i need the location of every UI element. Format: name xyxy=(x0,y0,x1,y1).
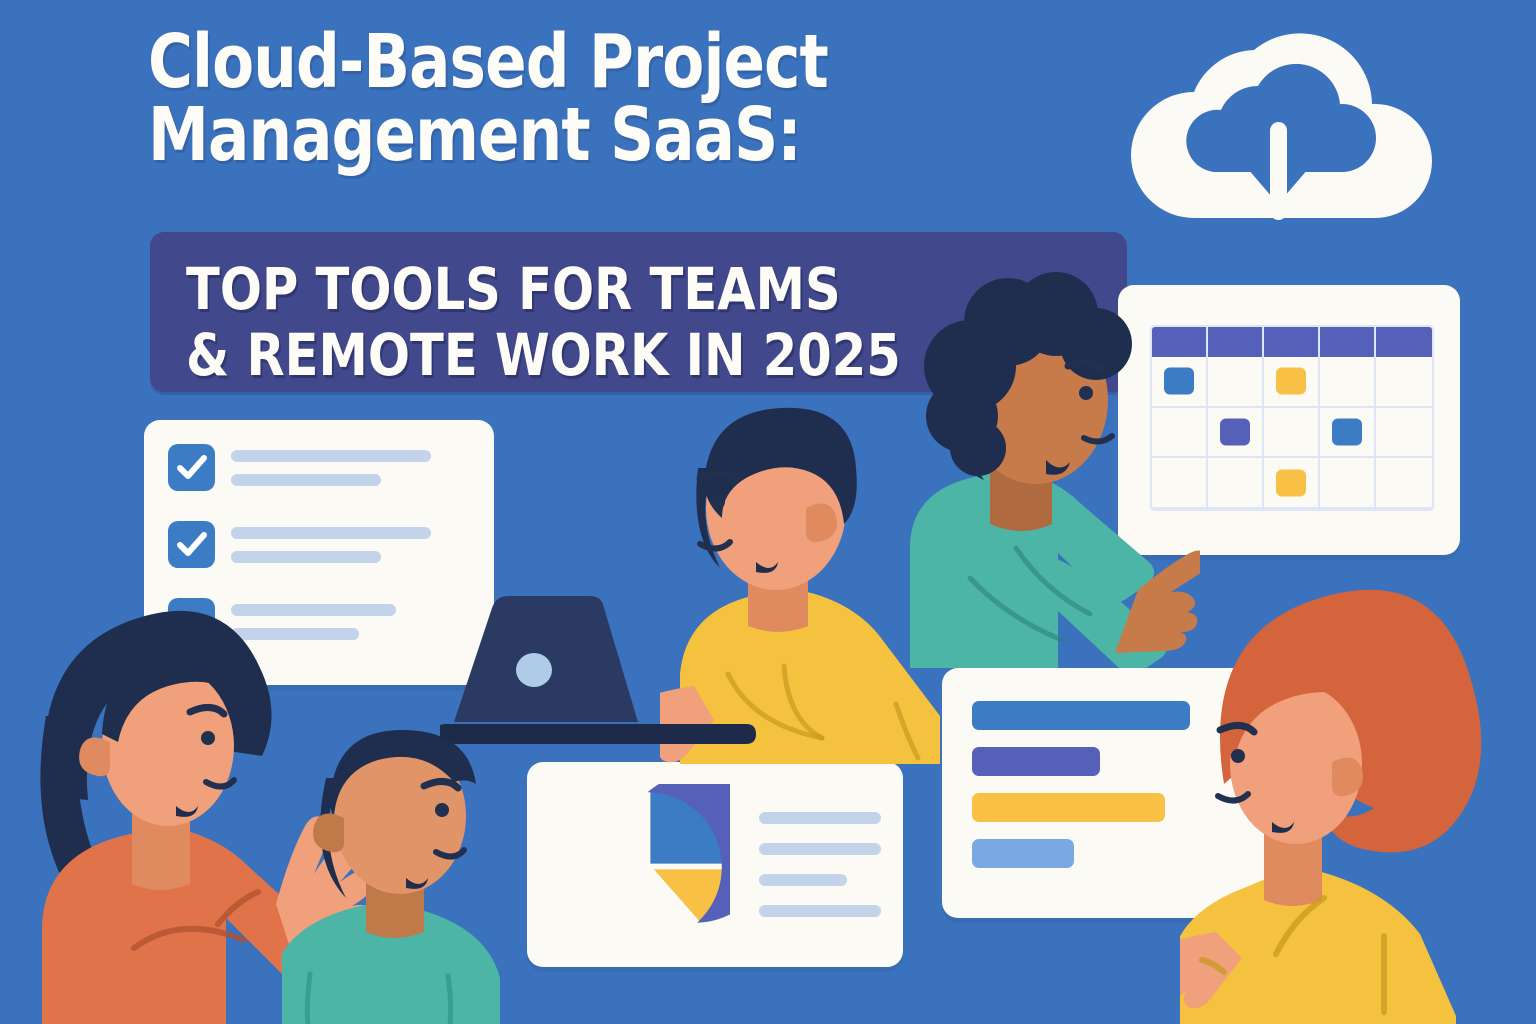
legend-line xyxy=(759,812,881,824)
calendar-cell[interactable] xyxy=(1376,408,1432,459)
progress-bar[interactable] xyxy=(972,793,1165,822)
calendar-cell[interactable] xyxy=(1208,357,1264,408)
pie-chart xyxy=(565,784,730,949)
calendar-header-cell xyxy=(1376,327,1432,357)
title-line-2: Management SaaS: xyxy=(148,99,1068,172)
legend-line xyxy=(759,905,881,917)
legend-line xyxy=(759,874,847,886)
calendar-cell[interactable] xyxy=(1376,458,1432,509)
calendar-event-chip[interactable] xyxy=(1332,418,1362,445)
pie-chart-card[interactable] xyxy=(527,762,903,967)
placeholder-line xyxy=(231,527,431,539)
title-line-1: Cloud-Based Project xyxy=(148,26,1068,99)
calendar-cell[interactable] xyxy=(1264,408,1320,459)
progress-bar[interactable] xyxy=(972,839,1074,868)
calendar-cell[interactable] xyxy=(1320,458,1376,509)
hero-illustration: Cloud-Based Project Management SaaS: TOP… xyxy=(0,0,1536,1024)
calendar-cell[interactable] xyxy=(1264,458,1320,509)
calendar-header-cell xyxy=(1264,327,1320,357)
placeholder-line xyxy=(231,474,381,486)
calendar-cell[interactable] xyxy=(1208,408,1264,459)
calendar-cell[interactable] xyxy=(1376,357,1432,408)
placeholder-line xyxy=(231,450,431,462)
person-man-teal xyxy=(282,728,582,1024)
calendar-event-chip[interactable] xyxy=(1276,368,1306,395)
calendar-event-chip[interactable] xyxy=(1220,418,1250,445)
calendar-cell[interactable] xyxy=(1208,458,1264,509)
calendar-cell[interactable] xyxy=(1264,357,1320,408)
subtitle-line-1: TOP TOOLS FOR TEAMS xyxy=(186,260,841,318)
progress-bar[interactable] xyxy=(972,747,1100,776)
checkbox-checked-1[interactable] xyxy=(168,444,215,491)
person-woman-redhair xyxy=(1180,584,1536,1024)
page-title: Cloud-Based Project Management SaaS: xyxy=(148,26,1148,171)
calendar-header-cell xyxy=(1320,327,1376,357)
cloud-download-icon xyxy=(1122,22,1434,237)
legend-line xyxy=(759,843,881,855)
subtitle-line-2: & REMOTE WORK IN 2025 xyxy=(186,326,901,384)
calendar-header-cell xyxy=(1208,327,1264,357)
progress-bar[interactable] xyxy=(972,701,1190,730)
calendar-event-chip[interactable] xyxy=(1276,469,1306,496)
calendar-cell[interactable] xyxy=(1320,357,1376,408)
calendar-cell[interactable] xyxy=(1320,408,1376,459)
